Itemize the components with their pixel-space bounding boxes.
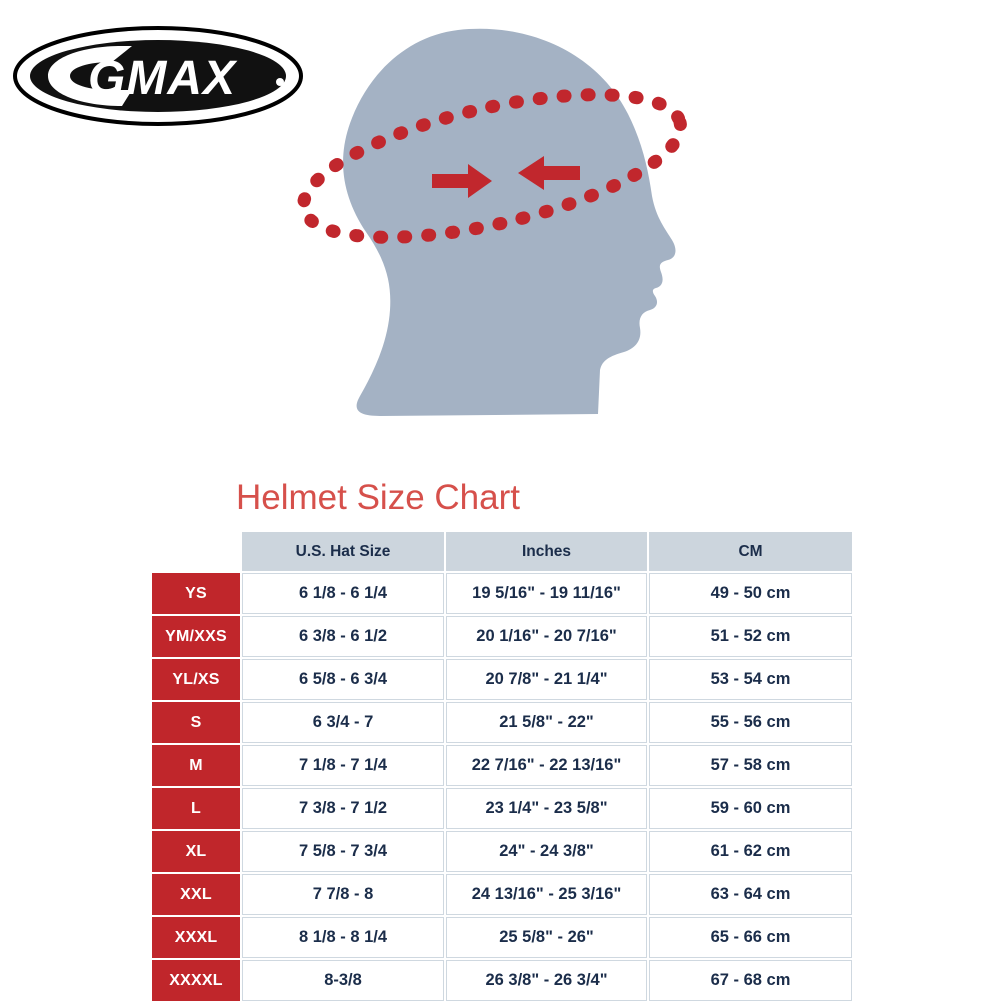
size-label: YM/XXS [152,616,240,657]
size-label: XXXXL [152,960,240,1001]
hat-size-value: 7 5/8 - 7 3/4 [242,831,444,872]
table-header: U.S. Hat Size Inches CM [152,532,852,571]
cm-value: 65 - 66 cm [649,917,852,958]
page-title: Helmet Size Chart [236,478,520,518]
table-row: M 7 1/8 - 7 1/4 22 7/16" - 22 13/16" 57 … [152,745,852,786]
size-label: M [152,745,240,786]
hat-size-value: 8 1/8 - 8 1/4 [242,917,444,958]
hat-size-value: 7 7/8 - 8 [242,874,444,915]
inches-value: 22 7/16" - 22 13/16" [446,745,647,786]
cm-value: 55 - 56 cm [649,702,852,743]
size-label: L [152,788,240,829]
table-header-row: U.S. Hat Size Inches CM [152,532,852,571]
hat-size-value: 7 3/8 - 7 1/2 [242,788,444,829]
column-header-inches: Inches [446,532,647,571]
cm-value: 63 - 64 cm [649,874,852,915]
hat-size-value: 6 3/4 - 7 [242,702,444,743]
head-silhouette [343,29,675,416]
head-measuring-illustration [280,18,720,438]
head-diagram-svg [280,18,720,438]
cm-value: 67 - 68 cm [649,960,852,1001]
table-row: XL 7 5/8 - 7 3/4 24" - 24 3/8" 61 - 62 c… [152,831,852,872]
helmet-size-table: U.S. Hat Size Inches CM YS 6 1/8 - 6 1/4… [150,530,854,1003]
size-label: S [152,702,240,743]
table-corner-cell [152,532,240,571]
gmax-logo-svg: GMAX [12,24,304,128]
inches-value: 20 7/8" - 21 1/4" [446,659,647,700]
table-row: S 6 3/4 - 7 21 5/8" - 22" 55 - 56 cm [152,702,852,743]
table-body: YS 6 1/8 - 6 1/4 19 5/16" - 19 11/16" 49… [152,573,852,1001]
size-label: XXXL [152,917,240,958]
table-row: YM/XXS 6 3/8 - 6 1/2 20 1/16" - 20 7/16"… [152,616,852,657]
size-label: XXL [152,874,240,915]
inches-value: 20 1/16" - 20 7/16" [446,616,647,657]
logo-wordmark: GMAX [88,52,238,105]
table-row: XXL 7 7/8 - 8 24 13/16" - 25 3/16" 63 - … [152,874,852,915]
inches-value: 23 1/4" - 23 5/8" [446,788,647,829]
size-label: YL/XS [152,659,240,700]
table-row: XXXL 8 1/8 - 8 1/4 25 5/8" - 26" 65 - 66… [152,917,852,958]
cm-value: 51 - 52 cm [649,616,852,657]
cm-value: 59 - 60 cm [649,788,852,829]
table-row: L 7 3/8 - 7 1/2 23 1/4" - 23 5/8" 59 - 6… [152,788,852,829]
size-label: XL [152,831,240,872]
gmax-logo: GMAX [12,24,304,128]
table-row: YS 6 1/8 - 6 1/4 19 5/16" - 19 11/16" 49… [152,573,852,614]
cm-value: 53 - 54 cm [649,659,852,700]
column-header-hat-size: U.S. Hat Size [242,532,444,571]
hat-size-value: 6 1/8 - 6 1/4 [242,573,444,614]
cm-value: 61 - 62 cm [649,831,852,872]
inches-value: 19 5/16" - 19 11/16" [446,573,647,614]
hat-size-value: 7 1/8 - 7 1/4 [242,745,444,786]
inches-value: 25 5/8" - 26" [446,917,647,958]
inches-value: 21 5/8" - 22" [446,702,647,743]
hat-size-value: 6 3/8 - 6 1/2 [242,616,444,657]
column-header-cm: CM [649,532,852,571]
inches-value: 24 13/16" - 25 3/16" [446,874,647,915]
cm-value: 49 - 50 cm [649,573,852,614]
size-label: YS [152,573,240,614]
inches-value: 24" - 24 3/8" [446,831,647,872]
inches-value: 26 3/8" - 26 3/4" [446,960,647,1001]
table-row: XXXXL 8-3/8 26 3/8" - 26 3/4" 67 - 68 cm [152,960,852,1001]
cm-value: 57 - 58 cm [649,745,852,786]
table-row: YL/XS 6 5/8 - 6 3/4 20 7/8" - 21 1/4" 53… [152,659,852,700]
hat-size-value: 6 5/8 - 6 3/4 [242,659,444,700]
hat-size-value: 8-3/8 [242,960,444,1001]
